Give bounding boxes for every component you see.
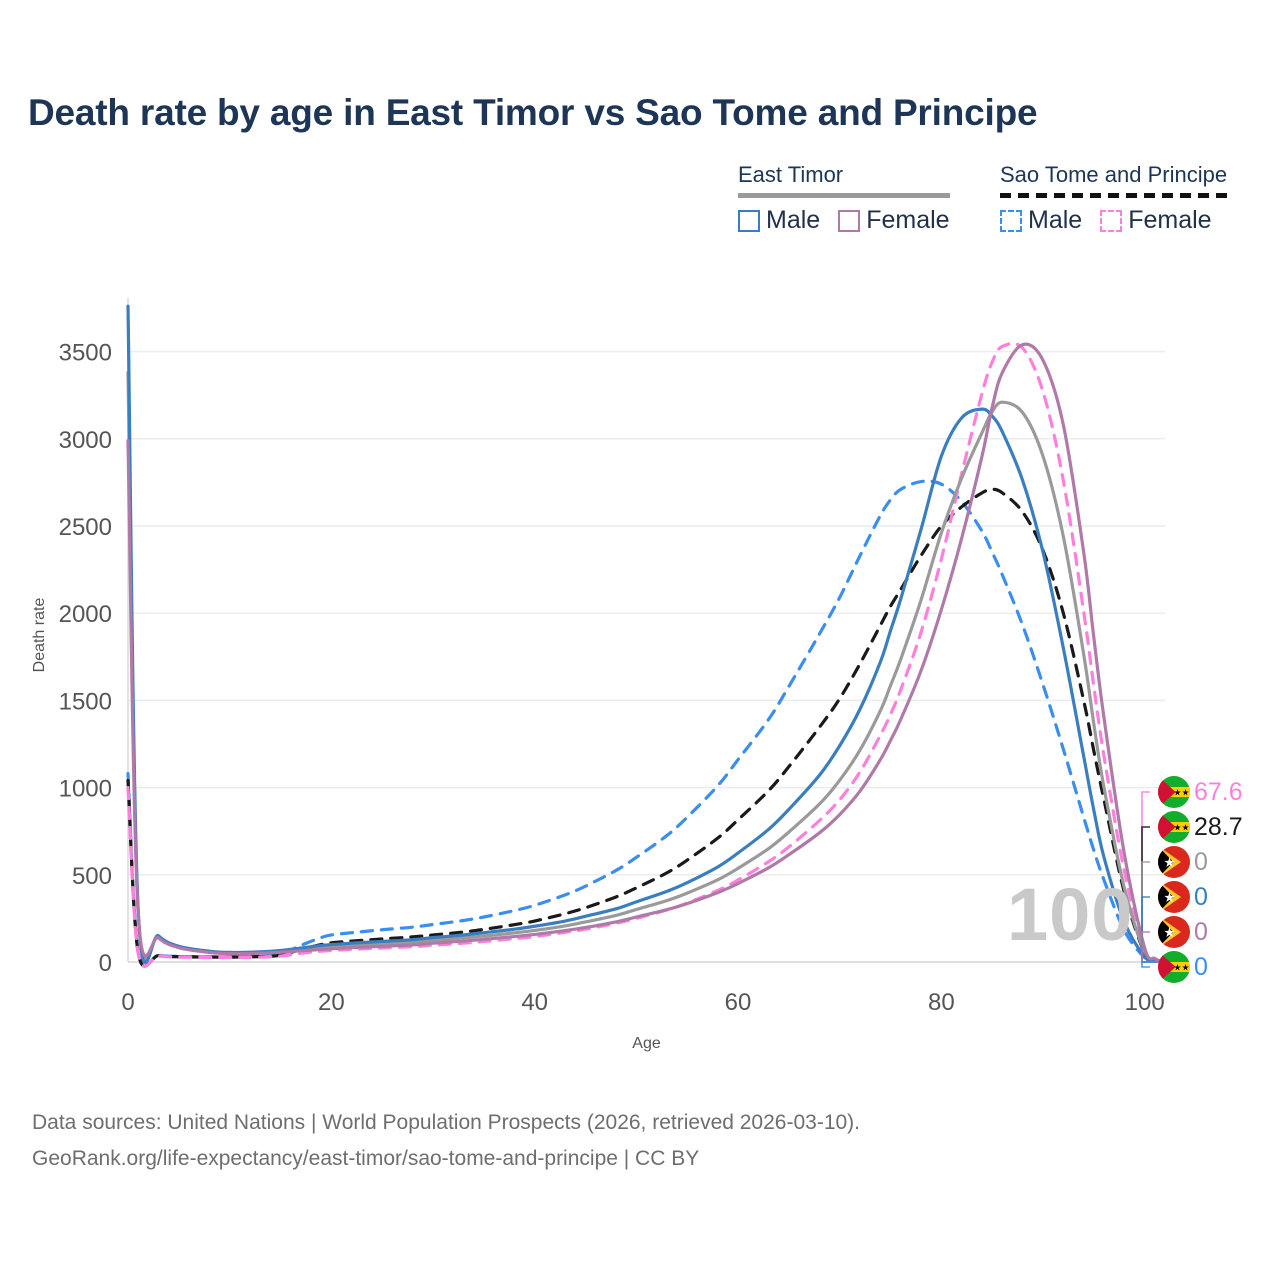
chart-container: Death rate by age in East Timor vs Sao T… [0, 0, 1280, 1280]
x-tick-label: 40 [521, 989, 548, 1016]
y-axis-title: Death rate [31, 598, 48, 673]
x-tick-label: 20 [318, 989, 345, 1016]
east-timor-flag-icon [1158, 916, 1190, 948]
y-tick-label: 2500 [59, 514, 112, 541]
y-tick-label: 3000 [59, 427, 112, 454]
end-annotation-value: 0 [1194, 951, 1208, 983]
watermark-label: 100 [1007, 872, 1133, 957]
x-tick-label: 0 [121, 989, 134, 1016]
end-annotation-row: 28.7 [1158, 811, 1243, 843]
x-tick-label: 60 [725, 989, 752, 1016]
y-tick-label: 500 [72, 863, 112, 890]
end-annotation-value: 67.6 [1194, 776, 1243, 808]
y-tick-label: 1000 [59, 776, 112, 803]
footer-line-url: GeoRank.org/life-expectancy/east-timor/s… [32, 1141, 860, 1177]
x-axis-title: Age [632, 1035, 661, 1052]
series-line [128, 344, 1165, 962]
sao-tome-and-principe-flag-icon [1158, 776, 1190, 808]
end-annotation-value: 28.7 [1194, 811, 1243, 843]
end-annotation-row: 0 [1158, 881, 1208, 913]
sao-tome-and-principe-flag-icon [1158, 811, 1190, 843]
end-annotation-row: 0 [1158, 846, 1208, 878]
y-tick-label: 3500 [59, 340, 112, 367]
x-tick-label: 100 [1125, 989, 1165, 1016]
end-annotation-value: 0 [1194, 916, 1208, 948]
east-timor-flag-icon [1158, 846, 1190, 878]
sao-tome-and-principe-flag-icon [1158, 951, 1190, 983]
east-timor-flag-icon [1158, 881, 1190, 913]
y-tick-label: 2000 [59, 601, 112, 628]
footer-line-sources: Data sources: United Nations | World Pop… [32, 1105, 860, 1141]
footer-credits: Data sources: United Nations | World Pop… [32, 1105, 860, 1177]
end-annotation-value: 0 [1194, 881, 1208, 913]
y-tick-label: 1500 [59, 688, 112, 715]
end-annotation-row: 0 [1158, 916, 1208, 948]
end-annotation-row: 67.6 [1158, 776, 1243, 808]
x-tick-label: 80 [928, 989, 955, 1016]
y-tick-label: 0 [99, 950, 112, 977]
end-value-annotations: 67.628.70000 [1158, 776, 1280, 976]
end-annotation-row: 0 [1158, 951, 1208, 983]
end-annotation-value: 0 [1194, 846, 1208, 878]
